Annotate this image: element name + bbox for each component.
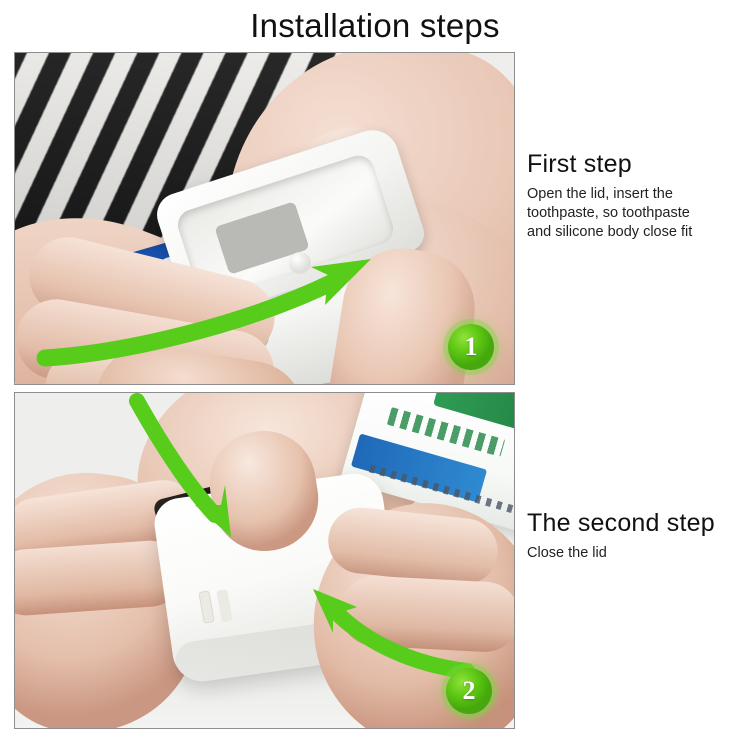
step-1-body-line-3: and silicone body close fit (527, 223, 745, 242)
step-1-photo-panel: 1 (14, 52, 515, 385)
step-1-heading: First step (527, 149, 745, 179)
step-1-caption: First step Open the lid, insert the toot… (527, 149, 745, 242)
step-2-badge: 2 (446, 668, 492, 714)
page-title: Installation steps (0, 6, 750, 46)
step-2-caption: The second step Close the lid (527, 508, 745, 563)
step-1-photo (15, 53, 514, 384)
installation-steps-page: Installation steps (0, 0, 750, 750)
step-2-photo (15, 393, 514, 728)
step-2-photo-panel: 2 (14, 392, 515, 729)
step-2-body-line-1: Close the lid (527, 544, 745, 563)
step-1-badge: 1 (448, 324, 494, 370)
step-1-body: Open the lid, insert the toothpaste, so … (527, 185, 745, 242)
step-1-body-line-1: Open the lid, insert the (527, 185, 745, 204)
step-2-body: Close the lid (527, 544, 745, 563)
dispenser-nub (289, 252, 311, 274)
step-1-body-line-2: toothpaste, so toothpaste (527, 204, 745, 223)
right-finger-lower (338, 574, 515, 653)
step-2-heading: The second step (527, 508, 745, 538)
